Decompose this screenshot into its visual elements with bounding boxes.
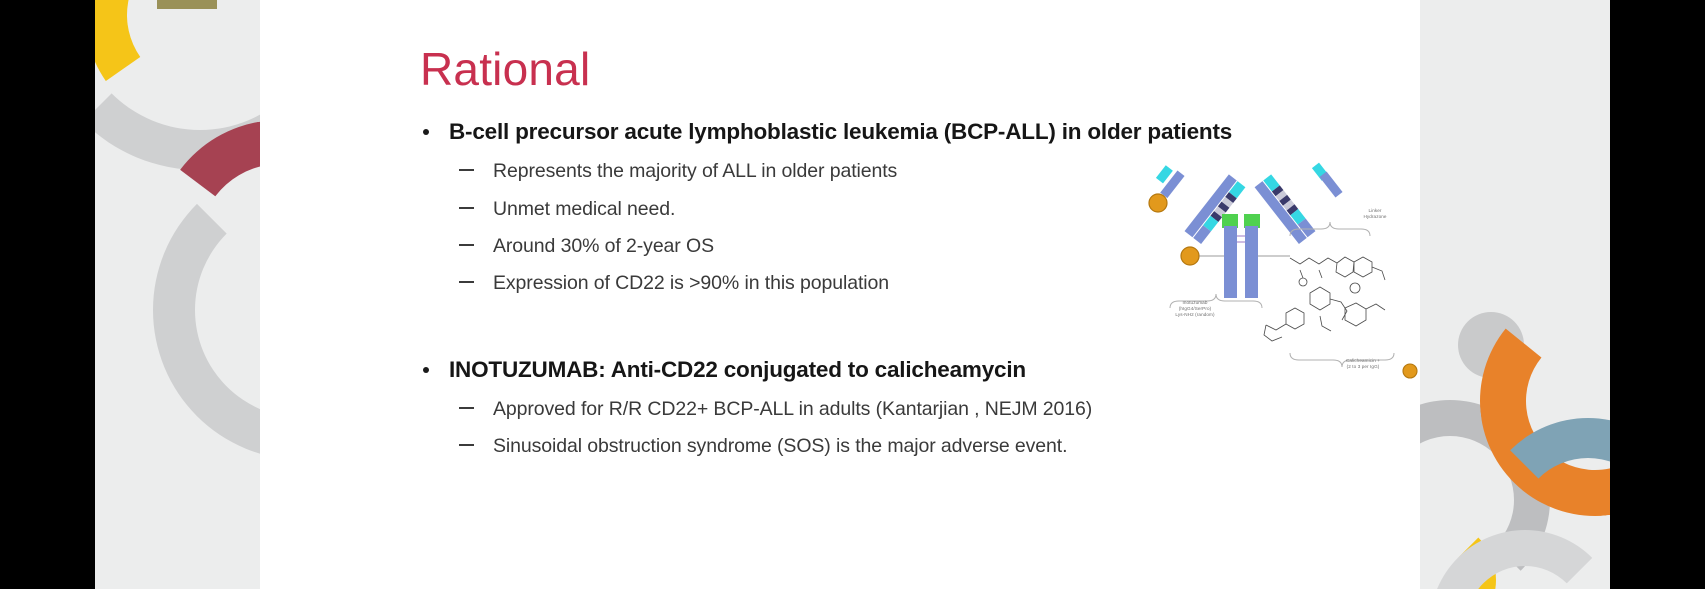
bullet-level2-text: Around 30% of 2-year OS — [493, 235, 714, 257]
fc-chain-right — [1245, 226, 1258, 298]
hinge-right — [1244, 214, 1260, 228]
slide-decoration-right — [1420, 0, 1610, 589]
dash-bullet-icon — [459, 281, 474, 283]
dash-bullet-icon — [459, 444, 474, 446]
bullet-level1-text: INOTUZUMAB: Anti-CD22 conjugated to cali… — [449, 357, 1026, 382]
antibody-drug-conjugate-figure: Inotuzumab (hIgG4/SerPro) Lys-NH2 (rando… — [1140, 158, 1440, 388]
dash-bullet-icon — [459, 407, 474, 409]
payload-dot — [1181, 247, 1199, 265]
fab-arm-right — [1255, 163, 1343, 244]
hinge-left — [1222, 214, 1238, 228]
dash-bullet-icon — [459, 207, 474, 209]
bullet-level2-text: Unmet medical need. — [493, 198, 675, 220]
bullet-level2-text: Expression of CD22 is >90% in this popul… — [493, 272, 889, 294]
bullet-level2-text: Represents the majority of ALL in older … — [493, 160, 897, 182]
bullet-level1: B-cell precursor acute lymphoblastic leu… — [415, 118, 1415, 146]
bullet-level2-text: Sinusoidal obstruction syndrome (SOS) is… — [493, 435, 1067, 457]
bullet-level2: Sinusoidal obstruction syndrome (SOS) is… — [415, 435, 1415, 458]
letterbox-bar-right — [1610, 0, 1705, 589]
bullet-dot-icon — [423, 129, 429, 135]
presentation-slide: Rational B-cell precursor acute lymphobl… — [95, 0, 1610, 589]
bullet-level1-text: B-cell precursor acute lymphoblastic leu… — [449, 119, 1232, 144]
dash-bullet-icon — [459, 244, 474, 246]
letterbox-bar-left — [0, 0, 95, 589]
adc-diagram-svg — [1140, 158, 1440, 388]
slide-title: Rational — [420, 42, 590, 96]
figure-label-payload: Calicheamicin + (2 to 3 per IgG) — [1308, 358, 1418, 370]
payload-dot — [1149, 194, 1167, 212]
calicheamicin-structure — [1264, 257, 1385, 341]
bullet-level2-text: Approved for R/R CD22+ BCP-ALL in adults… — [493, 398, 1092, 420]
slide-decoration-left — [95, 0, 260, 589]
bullet-level2: Approved for R/R CD22+ BCP-ALL in adults… — [415, 398, 1415, 421]
figure-label-linker: Linker Hydrazone — [1340, 208, 1410, 220]
figure-label-antibody: Inotuzumab (hIgG4/SerPro) Lys-NH2 (rando… — [1150, 300, 1240, 319]
dash-bullet-icon — [459, 169, 474, 171]
video-letterbox-frame: Rational B-cell precursor acute lymphobl… — [0, 0, 1705, 589]
fc-chain-left — [1224, 226, 1237, 298]
bullet-dot-icon — [423, 367, 429, 373]
slide-content-area: Rational B-cell precursor acute lymphobl… — [260, 0, 1420, 589]
